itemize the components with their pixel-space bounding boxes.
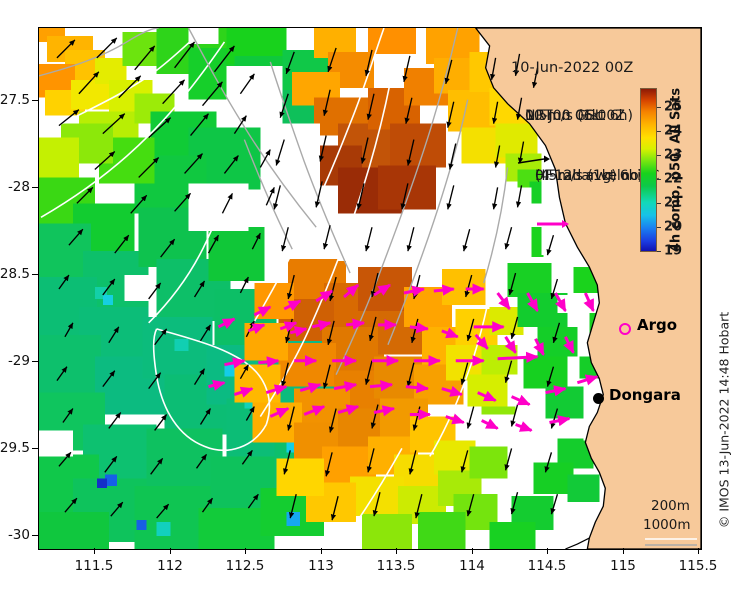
x-tick-label: 115.5 — [679, 558, 718, 574]
y-tick-label: -28 — [8, 179, 30, 195]
datestamp-label: 10-Jun-2022 00Z — [511, 60, 633, 76]
x-tick-label: 112.5 — [226, 558, 265, 574]
dongara-label: Dongara — [609, 386, 681, 404]
x-tick-label: 113 — [308, 558, 334, 574]
satellite-legend-line3: 0.5m/s (1kt 6h) — [525, 108, 633, 125]
map-plot-area[interactable]: 10-Jun-2022 00Z NRT00 GSL 10-Jun 06:00Z … — [38, 27, 702, 550]
colorbar-gradient — [640, 88, 657, 252]
argo-label: Argo — [637, 316, 677, 334]
y-tick-label: -29 — [8, 353, 30, 369]
x-tick-label: 112 — [157, 558, 183, 574]
depth-legend-lines — [645, 536, 702, 550]
y-tick-label: -30 — [8, 527, 30, 543]
depth-label-1000m: 1000m — [643, 517, 691, 533]
y-tick-label: -28.5 — [0, 266, 30, 282]
y-tick-label: -29.5 — [0, 440, 30, 456]
credit-text: © IMOS 13-Jun-2022 14:48 Hobart — [717, 312, 732, 528]
argo-marker-icon[interactable] — [619, 323, 631, 335]
hf-radar-velocity-vectors — [39, 28, 701, 549]
satellite-reference-arrow-icon — [517, 154, 551, 166]
hf-legend-line3: 0.5m/s (1kt 6h) — [535, 168, 643, 185]
depth-label-200m: 200m — [651, 498, 690, 514]
y-tick-label: -27.5 — [0, 92, 30, 108]
x-tick-label: 114 — [459, 558, 485, 574]
figure-root: 10-Jun-2022 00Z NRT00 GSL 10-Jun 06:00Z … — [0, 0, 740, 592]
x-tick-label: 114.5 — [528, 558, 567, 574]
hf-radar-reference-arrow-icon — [536, 219, 570, 229]
x-tick-label: 115 — [610, 558, 636, 574]
x-tick-label: 113.5 — [377, 558, 416, 574]
colorbar[interactable]: 19 20 21 22 23 24 25 — [640, 88, 657, 252]
x-tick-label: 111.5 — [75, 558, 114, 574]
dongara-marker-icon[interactable] — [593, 393, 604, 404]
colorbar-title: 4h comp, p50, All Sats — [669, 88, 684, 252]
